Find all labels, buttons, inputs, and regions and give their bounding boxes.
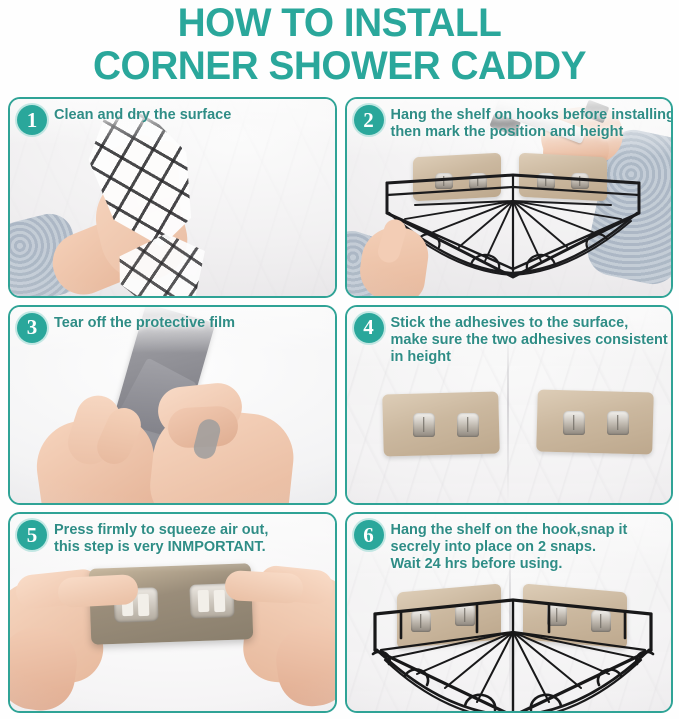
step-card-4: 4 Stick the adhesives to the surface, ma… bbox=[345, 305, 674, 506]
infographic-page: HOW TO INSTALL CORNER SHOWER CADDY bbox=[0, 0, 679, 719]
adhesive-pad-right bbox=[536, 389, 654, 454]
step-card-3: 3 Tear off the protective film bbox=[8, 305, 337, 506]
adhesive-pad-left bbox=[382, 391, 500, 456]
installed-wire-shelf-graphic bbox=[365, 588, 661, 713]
step-card-6: 6 Hang the shelf on the hook,snap it sec… bbox=[345, 512, 674, 713]
title-line-1: HOW TO INSTALL bbox=[10, 2, 669, 44]
steps-grid: 1 Clean and dry the surface bbox=[8, 97, 673, 713]
step-card-1: 1 Clean and dry the surface bbox=[8, 97, 337, 298]
step-card-5: 5 Press firmly to squeeze air out, this … bbox=[8, 512, 337, 713]
page-title: HOW TO INSTALL CORNER SHOWER CADDY bbox=[0, 0, 679, 88]
title-line-2: CORNER SHOWER CADDY bbox=[10, 44, 669, 88]
step-card-2: 2 Hang the shelf on hooks before install… bbox=[345, 97, 674, 298]
